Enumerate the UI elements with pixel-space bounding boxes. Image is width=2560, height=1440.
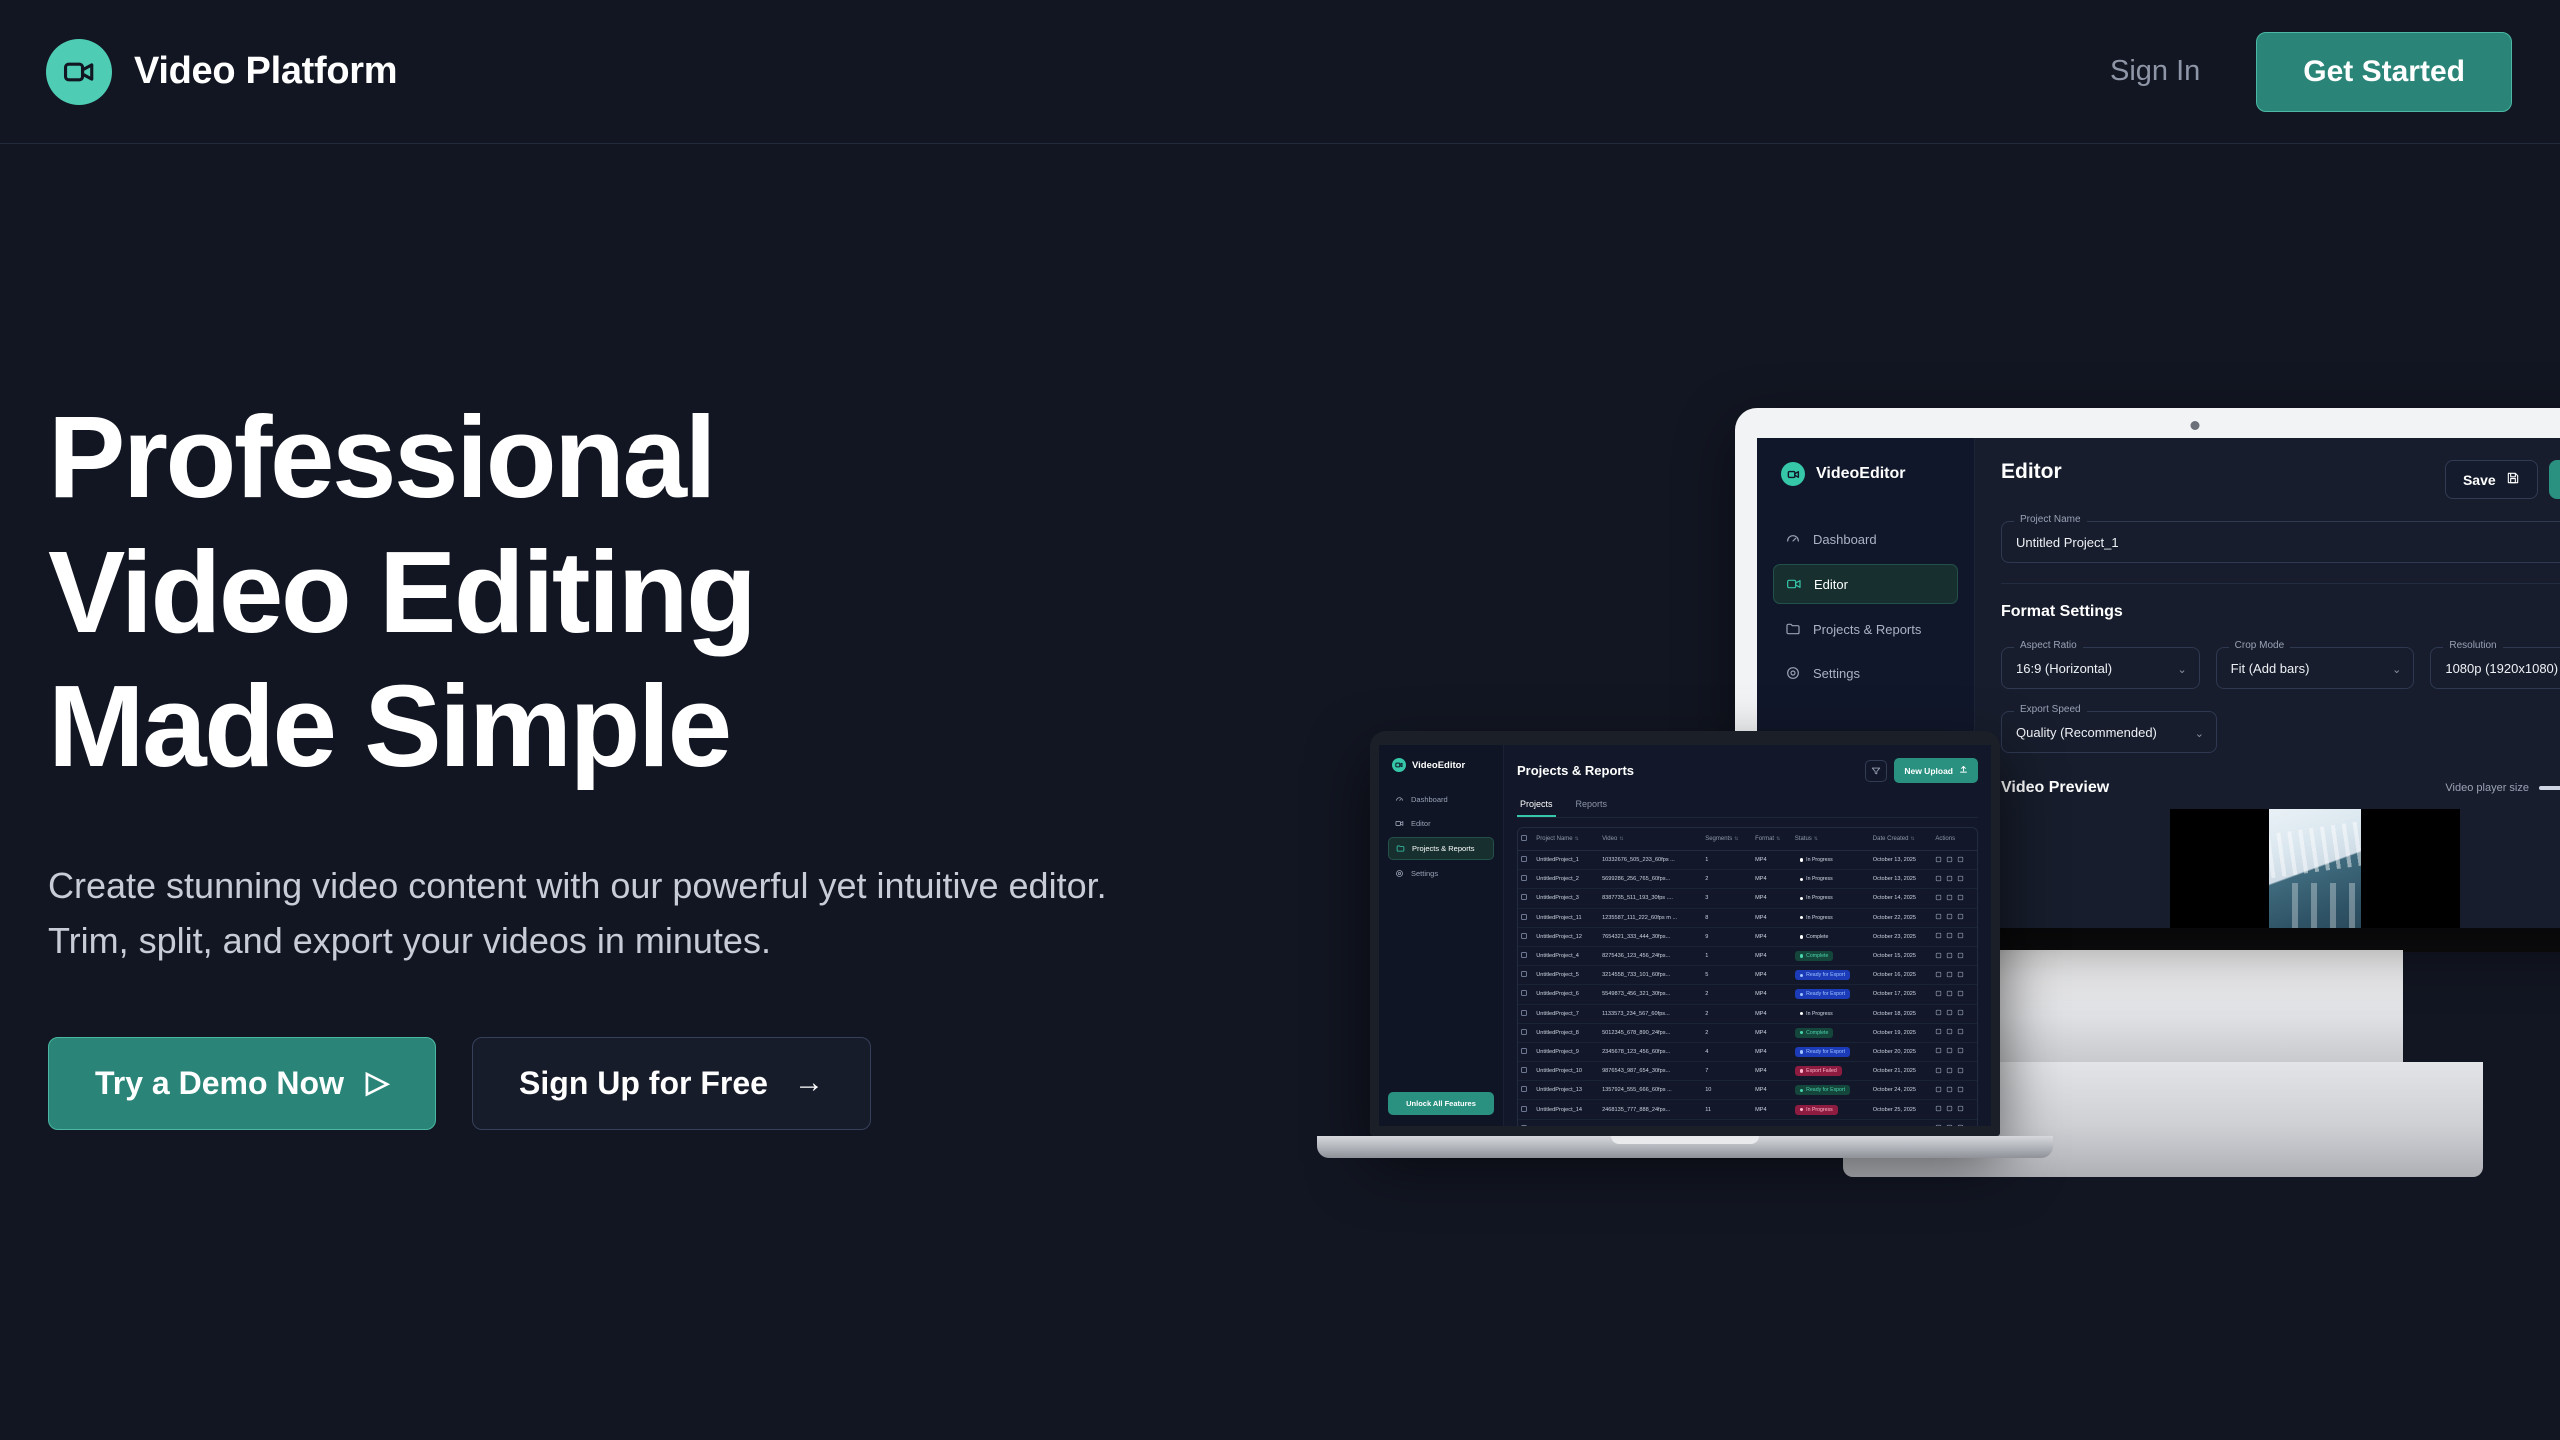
edit-icon[interactable] <box>1935 856 1942 863</box>
edit-icon[interactable] <box>1935 894 1942 901</box>
cell-video: 1235587_111_222_60fps m ... <box>1599 908 1702 927</box>
edit-icon[interactable] <box>1935 1047 1942 1054</box>
edit-icon[interactable] <box>1935 1028 1942 1035</box>
cell-project-name: UntitledProject_6 <box>1533 985 1599 1004</box>
sort-icon[interactable]: ⇅ <box>1776 836 1780 842</box>
table-row[interactable]: UntitledProject_65549873_456_321_30fps..… <box>1518 985 1977 1004</box>
download-icon[interactable] <box>1946 1028 1953 1035</box>
cell-actions[interactable] <box>1932 1023 1977 1042</box>
filter-icon[interactable] <box>1865 760 1887 782</box>
sidebar-item-label: Dashboard <box>1411 795 1448 804</box>
status-label: Complete <box>1806 1030 1828 1036</box>
row-checkbox-cell[interactable] <box>1518 1004 1533 1023</box>
download-icon[interactable] <box>1946 932 1953 939</box>
cell-date-created: October 14, 2025 <box>1870 889 1933 908</box>
download-icon[interactable] <box>1946 1047 1953 1054</box>
row-checkbox-cell[interactable] <box>1518 946 1533 965</box>
sidebar-item-editor[interactable]: Editor <box>1388 813 1494 834</box>
cell-format: MP4 <box>1752 1062 1792 1081</box>
cell-actions[interactable] <box>1932 1062 1977 1081</box>
laptop-screen: VideoEditor Dashboard Editor <box>1379 745 1991 1126</box>
sign-up-free-button[interactable]: Sign Up for Free → <box>472 1037 871 1130</box>
edit-icon[interactable] <box>1935 1067 1942 1074</box>
delete-icon[interactable] <box>1957 1028 1964 1035</box>
save-icon <box>2506 471 2520 488</box>
crop-mode-value: Fit (Add bars) <box>2231 661 2310 676</box>
row-checkbox[interactable] <box>1521 856 1527 862</box>
laptop-mockup: VideoEditor Dashboard Editor <box>1370 731 2000 1158</box>
delete-icon[interactable] <box>1957 932 1964 939</box>
row-checkbox[interactable] <box>1521 952 1527 958</box>
col-video[interactable]: Video⇅ <box>1599 828 1702 851</box>
site-header: Video Platform Sign In Get Started <box>0 0 2560 144</box>
table-row[interactable]: UntitledProject_127654321_333_444_30fps.… <box>1518 927 1977 946</box>
cell-actions[interactable] <box>1932 1119 1977 1126</box>
cell-video: 8387735_511_193_30fps .... <box>1599 889 1702 908</box>
download-icon[interactable] <box>1946 971 1953 978</box>
col-select[interactable] <box>1518 828 1533 851</box>
cell-actions[interactable] <box>1932 1004 1977 1023</box>
row-checkbox[interactable] <box>1521 1029 1527 1035</box>
hero-heading-line-2: Video Editing <box>48 525 1228 660</box>
status-dot-icon <box>1800 974 1803 977</box>
brand-name: Video Platform <box>134 50 397 93</box>
cell-video: 5012345_678_890_24fps... <box>1599 1023 1702 1042</box>
status-badge: In Progress <box>1795 855 1838 865</box>
player-size-slider[interactable] <box>2539 786 2560 790</box>
row-checkbox[interactable] <box>1521 1086 1527 1092</box>
delete-icon[interactable] <box>1957 1105 1964 1112</box>
row-action-icons[interactable] <box>1935 856 1964 863</box>
col-label: Status <box>1795 836 1812 842</box>
sort-icon[interactable]: ⇅ <box>1910 836 1914 842</box>
row-checkbox[interactable] <box>1521 971 1527 977</box>
cell-status: In Progress <box>1792 1100 1870 1119</box>
row-checkbox[interactable] <box>1521 990 1527 996</box>
row-checkbox[interactable] <box>1521 933 1527 939</box>
cell-video: 8275436_123_456_24fps... <box>1599 946 1702 965</box>
status-dot-icon <box>1800 897 1803 900</box>
play-icon: ▷ <box>366 1068 389 1098</box>
row-action-icons[interactable] <box>1935 971 1964 978</box>
row-checkbox-cell[interactable] <box>1518 870 1533 889</box>
projects-header-actions: New Upload <box>1865 758 1978 783</box>
cell-segments: 2 <box>1702 1023 1752 1042</box>
table-row[interactable]: UntitledProject_38387735_511_193_30fps .… <box>1518 889 1977 908</box>
crop-mode-label: Crop Mode <box>2229 640 2290 651</box>
row-checkbox-cell[interactable] <box>1518 985 1533 1004</box>
row-action-icons[interactable] <box>1935 894 1964 901</box>
table-row[interactable]: UntitledProject_159871234_999_000_60fps.… <box>1518 1119 1977 1126</box>
sidebar-item-projects-reports[interactable]: Projects & Reports <box>1773 610 1958 648</box>
projects-sidebar: VideoEditor Dashboard Editor <box>1379 745 1504 1126</box>
table-row[interactable]: UntitledProject_53214558_733_101_60fps..… <box>1518 966 1977 985</box>
delete-icon[interactable] <box>1957 1124 1964 1126</box>
status-badge: Ready for Export <box>1795 1085 1850 1095</box>
cell-actions[interactable] <box>1932 927 1977 946</box>
edit-icon[interactable] <box>1935 1105 1942 1112</box>
delete-icon[interactable] <box>1957 952 1964 959</box>
cell-format: MP4 <box>1752 908 1792 927</box>
download-icon[interactable] <box>1946 990 1953 997</box>
row-action-icons[interactable] <box>1935 952 1964 959</box>
status-badge: Ready for Export <box>1795 989 1850 999</box>
hero-subtitle: Create stunning video content with our p… <box>48 858 1118 969</box>
cell-video: 3214558_733_101_60fps... <box>1599 966 1702 985</box>
row-checkbox-cell[interactable] <box>1518 966 1533 985</box>
edit-icon[interactable] <box>1935 875 1942 882</box>
sort-icon[interactable]: ⇅ <box>1734 836 1738 842</box>
cell-segments: 9 <box>1702 927 1752 946</box>
hero-heading: Professional Video Editing Made Simple <box>48 390 1228 794</box>
editor-nav: Dashboard Editor <box>1773 520 1958 692</box>
delete-icon[interactable] <box>1957 894 1964 901</box>
sidebar-item-dashboard[interactable]: Dashboard <box>1388 789 1494 810</box>
col-label: Actions <box>1935 836 1955 842</box>
cell-format: MP4 <box>1752 1100 1792 1119</box>
status-badge: Ready for Export <box>1795 1047 1850 1057</box>
gear-icon <box>1395 869 1404 878</box>
status-badge: Export Failed <box>1795 1066 1842 1076</box>
status-label: Export Failed <box>1806 1068 1837 1074</box>
tab-reports[interactable]: Reports <box>1573 794 1611 817</box>
delete-icon[interactable] <box>1957 1067 1964 1074</box>
row-checkbox-cell[interactable] <box>1518 908 1533 927</box>
new-upload-button[interactable]: New Upload <box>1894 758 1978 783</box>
hero-section: Professional Video Editing Made Simple C… <box>48 390 1228 1130</box>
cell-segments: 11 <box>1702 1100 1752 1119</box>
upload-icon <box>1959 765 1968 776</box>
row-checkbox-cell[interactable] <box>1518 1062 1533 1081</box>
status-label: In Progress <box>1806 876 1833 882</box>
sort-icon[interactable]: ⇅ <box>1619 836 1623 842</box>
crop-mode-select[interactable]: Crop Mode Fit (Add bars) ⌄ <box>2216 647 2415 689</box>
status-label: Ready for Export <box>1806 991 1845 997</box>
status-label: In Progress <box>1806 857 1833 863</box>
cell-actions[interactable] <box>1932 966 1977 985</box>
delete-icon[interactable] <box>1957 875 1964 882</box>
row-action-icons[interactable] <box>1935 1124 1964 1126</box>
row-action-icons[interactable] <box>1935 1086 1964 1093</box>
cell-segments: 8 <box>1702 908 1752 927</box>
arrow-right-icon: → <box>794 1068 824 1098</box>
cell-project-name: UntitledProject_2 <box>1533 870 1599 889</box>
status-badge: Complete <box>1795 1124 1834 1126</box>
aspect-ratio-select[interactable]: Aspect Ratio 16:9 (Horizontal) ⌄ <box>2001 647 2200 689</box>
status-label: In Progress <box>1806 895 1833 901</box>
status-label: Complete <box>1806 953 1828 959</box>
format-settings-grid: Aspect Ratio 16:9 (Horizontal) ⌄ Crop Mo… <box>2001 625 2560 689</box>
row-action-icons[interactable] <box>1935 1105 1964 1112</box>
page-title: Editor <box>2001 460 2062 484</box>
row-action-icons[interactable] <box>1935 1028 1964 1035</box>
download-icon[interactable] <box>1946 856 1953 863</box>
cell-date-created: October 13, 2025 <box>1870 851 1933 870</box>
status-label: Complete <box>1806 934 1828 940</box>
cell-actions[interactable] <box>1932 1100 1977 1119</box>
export-button[interactable]: Export <box>2549 460 2560 499</box>
cell-video: 2345678_123_456_60fps... <box>1599 1042 1702 1061</box>
video-preview-title: Video Preview <box>2001 779 2109 797</box>
editor-toolbar: Editor Save Export <box>2001 460 2560 499</box>
table-row[interactable]: UntitledProject_111235587_111_222_60fps … <box>1518 908 1977 927</box>
player-size-control[interactable]: Video player size <box>2445 782 2560 794</box>
tab-projects[interactable]: Projects <box>1517 794 1556 817</box>
cell-status: In Progress <box>1792 870 1870 889</box>
projects-table-wrapper: Project Name⇅ Video⇅ Segments⇅ Format⇅ S… <box>1517 827 1978 1126</box>
delete-icon[interactable] <box>1957 990 1964 997</box>
divider <box>2001 583 2560 584</box>
table-row[interactable]: UntitledProject_71133573_234_567_60fps..… <box>1518 1004 1977 1023</box>
cell-format: MP4 <box>1752 889 1792 908</box>
save-button[interactable]: Save <box>2445 460 2538 499</box>
download-icon[interactable] <box>1946 875 1953 882</box>
sidebar-item-dashboard[interactable]: Dashboard <box>1773 520 1958 558</box>
cell-status: Complete <box>1792 1023 1870 1042</box>
row-checkbox[interactable] <box>1521 1048 1527 1054</box>
cell-format: MP4 <box>1752 870 1792 889</box>
col-date-created[interactable]: Date Created⇅ <box>1870 828 1933 851</box>
delete-icon[interactable] <box>1957 1086 1964 1093</box>
row-checkbox-cell[interactable] <box>1518 1023 1533 1042</box>
cell-project-name: UntitledProject_10 <box>1533 1062 1599 1081</box>
download-icon[interactable] <box>1946 1086 1953 1093</box>
status-badge: Ready for Export <box>1795 970 1850 980</box>
gauge-icon <box>1785 531 1801 547</box>
status-dot-icon <box>1800 935 1803 938</box>
select-all-checkbox[interactable] <box>1521 835 1527 841</box>
cell-date-created: October 25, 2025 <box>1870 1100 1933 1119</box>
brand-logo-group[interactable]: Video Platform <box>46 39 397 105</box>
cell-date-created: October 20, 2025 <box>1870 1042 1933 1061</box>
webcam-dot-icon <box>2191 421 2200 430</box>
landing-page: Video Platform Sign In Get Started <box>0 0 2560 1440</box>
sidebar-item-editor[interactable]: Editor <box>1773 564 1958 604</box>
col-label: Date Created <box>1873 836 1909 842</box>
row-action-icons[interactable] <box>1935 913 1964 920</box>
col-actions: Actions <box>1932 828 1977 851</box>
download-icon[interactable] <box>1946 1067 1953 1074</box>
row-action-icons[interactable] <box>1935 1067 1964 1074</box>
row-checkbox-cell[interactable] <box>1518 1042 1533 1061</box>
cell-segments: 10 <box>1702 1081 1752 1100</box>
row-checkbox[interactable] <box>1521 1125 1527 1126</box>
sidebar-item-settings[interactable]: Settings <box>1773 654 1958 692</box>
row-action-icons[interactable] <box>1935 932 1964 939</box>
row-checkbox-cell[interactable] <box>1518 1100 1533 1119</box>
edit-icon[interactable] <box>1935 1009 1942 1016</box>
status-dot-icon <box>1800 916 1803 919</box>
hero-cta-row: Try a Demo Now ▷ Sign Up for Free → <box>48 1037 1228 1130</box>
edit-icon[interactable] <box>1935 971 1942 978</box>
try-demo-label: Try a Demo Now <box>95 1065 344 1102</box>
cell-segments: 7 <box>1702 1062 1752 1081</box>
projects-nav: Dashboard Editor Projects & Reports <box>1388 789 1494 884</box>
table-row[interactable]: UntitledProject_109876543_987_654_30fps.… <box>1518 1062 1977 1081</box>
cell-date-created: October 21, 2025 <box>1870 1062 1933 1081</box>
unlock-all-features-button[interactable]: Unlock All Features <box>1388 1092 1494 1115</box>
download-icon[interactable] <box>1946 913 1953 920</box>
col-status[interactable]: Status⇅ <box>1792 828 1870 851</box>
edit-icon[interactable] <box>1935 990 1942 997</box>
table-row[interactable]: UntitledProject_131357924_555_666_60fps … <box>1518 1081 1977 1100</box>
table-row[interactable]: UntitledProject_142468135_777_888_24fps.… <box>1518 1100 1977 1119</box>
cell-format: MP4 <box>1752 927 1792 946</box>
projects-tabs: Projects Reports <box>1517 794 1978 818</box>
table-head: Project Name⇅ Video⇅ Segments⇅ Format⇅ S… <box>1518 828 1977 851</box>
row-checkbox-cell[interactable] <box>1518 927 1533 946</box>
edit-icon[interactable] <box>1935 1124 1942 1126</box>
row-checkbox[interactable] <box>1521 1106 1527 1112</box>
cell-actions[interactable] <box>1932 870 1977 889</box>
project-name-field[interactable]: Project Name Untitled Project_1 <box>2001 521 2560 563</box>
cell-actions[interactable] <box>1932 1081 1977 1100</box>
sidebar-item-projects-reports[interactable]: Projects & Reports <box>1388 837 1494 860</box>
resolution-select[interactable]: Resolution 1080p (1920x1080) ⌄ <box>2430 647 2560 689</box>
download-icon[interactable] <box>1946 952 1953 959</box>
download-icon[interactable] <box>1946 1124 1953 1126</box>
col-project-name[interactable]: Project Name⇅ <box>1533 828 1599 851</box>
download-icon[interactable] <box>1946 1009 1953 1016</box>
table-row[interactable]: UntitledProject_92345678_123_456_60fps..… <box>1518 1042 1977 1061</box>
resolution-label: Resolution <box>2443 640 2502 651</box>
header-actions: Sign In Get Started <box>2110 32 2512 112</box>
delete-icon[interactable] <box>1957 913 1964 920</box>
table-row[interactable]: UntitledProject_25699286_256_765_60fps..… <box>1518 870 1977 889</box>
status-dot-icon <box>1800 1108 1803 1111</box>
cell-video: 1357924_555_666_60fps ... <box>1599 1081 1702 1100</box>
cell-video: 2468135_777_888_24fps... <box>1599 1100 1702 1119</box>
row-action-icons[interactable] <box>1935 1047 1964 1054</box>
cell-segments: 2 <box>1702 985 1752 1004</box>
delete-icon[interactable] <box>1957 971 1964 978</box>
try-demo-button[interactable]: Try a Demo Now ▷ <box>48 1037 436 1130</box>
row-action-icons[interactable] <box>1935 1009 1964 1016</box>
row-checkbox[interactable] <box>1521 875 1527 881</box>
cell-status: Ready for Export <box>1792 1081 1870 1100</box>
projects-table: Project Name⇅ Video⇅ Segments⇅ Format⇅ S… <box>1518 828 1977 1126</box>
cell-video: 1133573_234_567_60fps... <box>1599 1004 1702 1023</box>
laptop-notch <box>1630 731 1740 745</box>
table-row[interactable]: UntitledProject_48275436_123_456_24fps..… <box>1518 946 1977 965</box>
status-badge: In Progress <box>1795 1009 1838 1019</box>
cell-project-name: UntitledProject_8 <box>1533 1023 1599 1042</box>
row-action-icons[interactable] <box>1935 990 1964 997</box>
cell-format: MP4 <box>1752 851 1792 870</box>
cell-format: MP4 <box>1752 1004 1792 1023</box>
cell-segments: 1 <box>1702 851 1752 870</box>
status-badge: Complete <box>1795 932 1834 942</box>
status-label: Ready for Export <box>1806 1087 1845 1093</box>
cell-actions[interactable] <box>1932 851 1977 870</box>
status-dot-icon <box>1800 1031 1803 1034</box>
sort-icon[interactable]: ⇅ <box>1814 836 1818 842</box>
row-action-icons[interactable] <box>1935 875 1964 882</box>
delete-icon[interactable] <box>1957 1009 1964 1016</box>
cell-actions[interactable] <box>1932 889 1977 908</box>
get-started-button[interactable]: Get Started <box>2256 32 2512 112</box>
cell-project-name: UntitledProject_15 <box>1533 1119 1599 1126</box>
cell-date-created: October 17, 2025 <box>1870 985 1933 1004</box>
cell-project-name: UntitledProject_11 <box>1533 908 1599 927</box>
col-label: Segments <box>1705 836 1732 842</box>
sort-icon[interactable]: ⇅ <box>1575 836 1579 842</box>
status-badge: Complete <box>1795 951 1834 961</box>
cell-actions[interactable] <box>1932 985 1977 1004</box>
table-row[interactable]: UntitledProject_110332676_505_233_60fps … <box>1518 851 1977 870</box>
format-settings-title: Format Settings <box>2001 603 2560 621</box>
delete-icon[interactable] <box>1957 1047 1964 1054</box>
hero-heading-line-3: Made Simple <box>48 659 1228 794</box>
export-speed-value: Quality (Recommended) <box>2016 725 2157 740</box>
row-checkbox-cell[interactable] <box>1518 1119 1533 1126</box>
cell-format: MP4 <box>1752 1081 1792 1100</box>
cell-project-name: UntitledProject_14 <box>1533 1100 1599 1119</box>
edit-icon[interactable] <box>1935 952 1942 959</box>
row-checkbox[interactable] <box>1521 914 1527 920</box>
sidebar-item-settings[interactable]: Settings <box>1388 863 1494 884</box>
player-size-label: Video player size <box>2445 782 2529 794</box>
cell-format: MP4 <box>1752 1119 1792 1126</box>
download-icon[interactable] <box>1946 894 1953 901</box>
edit-icon[interactable] <box>1935 932 1942 939</box>
gauge-icon <box>1395 795 1404 804</box>
status-dot-icon <box>1800 858 1803 861</box>
row-checkbox-cell[interactable] <box>1518 851 1533 870</box>
row-checkbox[interactable] <box>1521 894 1527 900</box>
cell-date-created: October 19, 2025 <box>1870 1023 1933 1042</box>
cell-actions[interactable] <box>1932 1042 1977 1061</box>
export-speed-label: Export Speed <box>2014 704 2087 715</box>
delete-icon[interactable] <box>1957 856 1964 863</box>
cell-status: Complete <box>1792 946 1870 965</box>
cell-actions[interactable] <box>1932 946 1977 965</box>
status-dot-icon <box>1800 993 1803 996</box>
video-camera-icon <box>1392 758 1406 772</box>
status-badge: In Progress <box>1795 874 1838 884</box>
cell-date-created: October 22, 2025 <box>1870 908 1933 927</box>
sign-in-link[interactable]: Sign In <box>2110 55 2200 88</box>
cell-video: 9876543_987_654_30fps... <box>1599 1062 1702 1081</box>
cell-segments: 1 <box>1702 946 1752 965</box>
project-name-value: Untitled Project_1 <box>2016 535 2119 550</box>
status-label: In Progress <box>1806 915 1833 921</box>
row-checkbox-cell[interactable] <box>1518 889 1533 908</box>
col-segments[interactable]: Segments⇅ <box>1702 828 1752 851</box>
table-row[interactable]: UntitledProject_85012345_678_890_24fps..… <box>1518 1023 1977 1042</box>
row-checkbox[interactable] <box>1521 1067 1527 1073</box>
cell-project-name: UntitledProject_12 <box>1533 927 1599 946</box>
video-camera-icon <box>1786 576 1802 592</box>
row-checkbox[interactable] <box>1521 1010 1527 1016</box>
folder-icon <box>1396 844 1405 853</box>
cell-segments: 2 <box>1702 870 1752 889</box>
cell-format: MP4 <box>1752 985 1792 1004</box>
gear-icon <box>1785 665 1801 681</box>
sidebar-item-label: Editor <box>1814 577 1848 592</box>
status-dot-icon <box>1800 1050 1803 1053</box>
export-speed-select[interactable]: Export Speed Quality (Recommended) ⌄ <box>2001 711 2217 753</box>
row-checkbox-cell[interactable] <box>1518 1081 1533 1100</box>
cell-actions[interactable] <box>1932 908 1977 927</box>
download-icon[interactable] <box>1946 1105 1953 1112</box>
cell-status: Complete <box>1792 927 1870 946</box>
col-format[interactable]: Format⇅ <box>1752 828 1792 851</box>
status-badge: Complete <box>1795 1028 1834 1038</box>
edit-icon[interactable] <box>1935 1086 1942 1093</box>
edit-icon[interactable] <box>1935 913 1942 920</box>
cell-status: In Progress <box>1792 1004 1870 1023</box>
